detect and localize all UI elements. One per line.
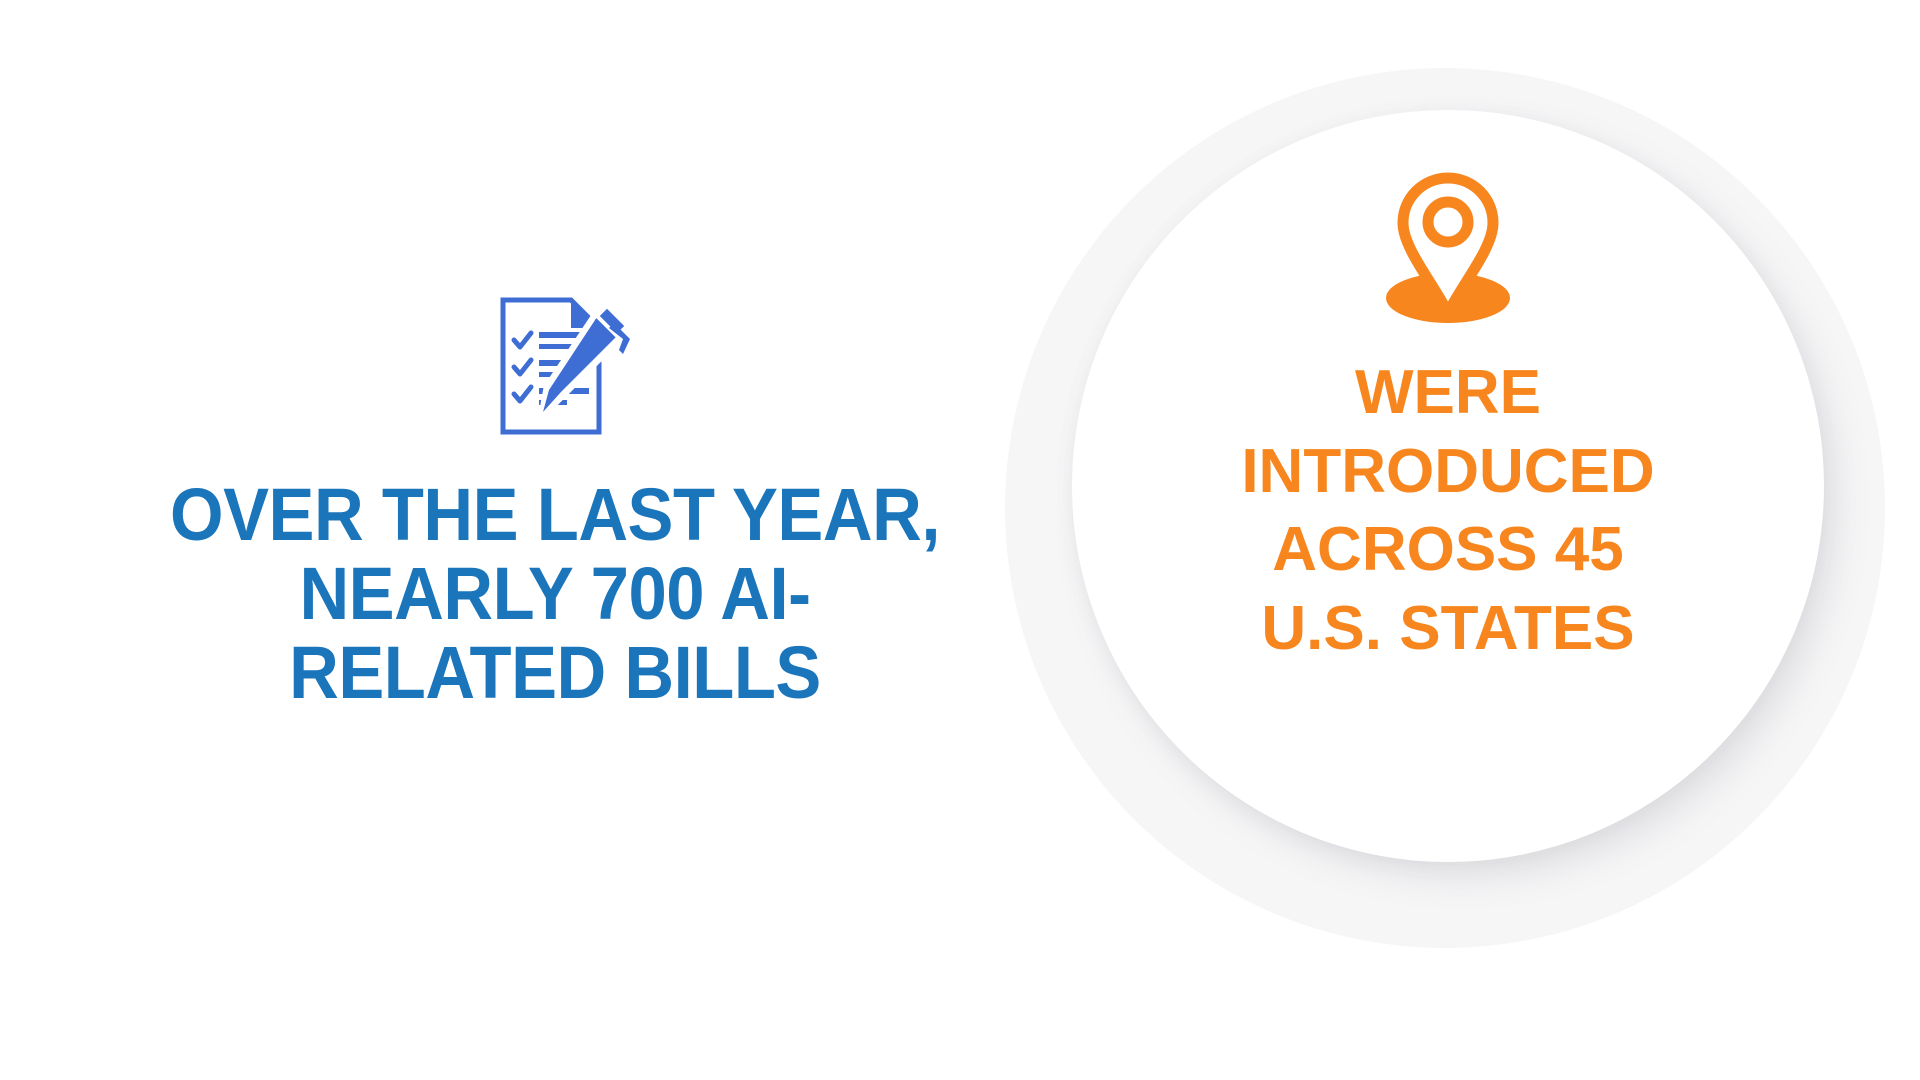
left-heading-text: OVER THE LAST YEAR, NEARLY 700 AI- RELAT… — [137, 475, 974, 713]
right-stat-panel: WERE INTRODUCED ACROSS 45 U.S. STATES — [960, 0, 1920, 1080]
map-pin-location-icon — [1373, 168, 1523, 326]
circle-content-group: WERE INTRODUCED ACROSS 45 U.S. STATES — [1072, 110, 1824, 862]
document-checklist-pen-icon — [483, 292, 633, 440]
right-heading-text: WERE INTRODUCED ACROSS 45 U.S. STATES — [1138, 354, 1758, 669]
left-stat-panel: OVER THE LAST YEAR, NEARLY 700 AI- RELAT… — [0, 0, 960, 1080]
infographic-canvas: OVER THE LAST YEAR, NEARLY 700 AI- RELAT… — [0, 0, 1920, 1080]
